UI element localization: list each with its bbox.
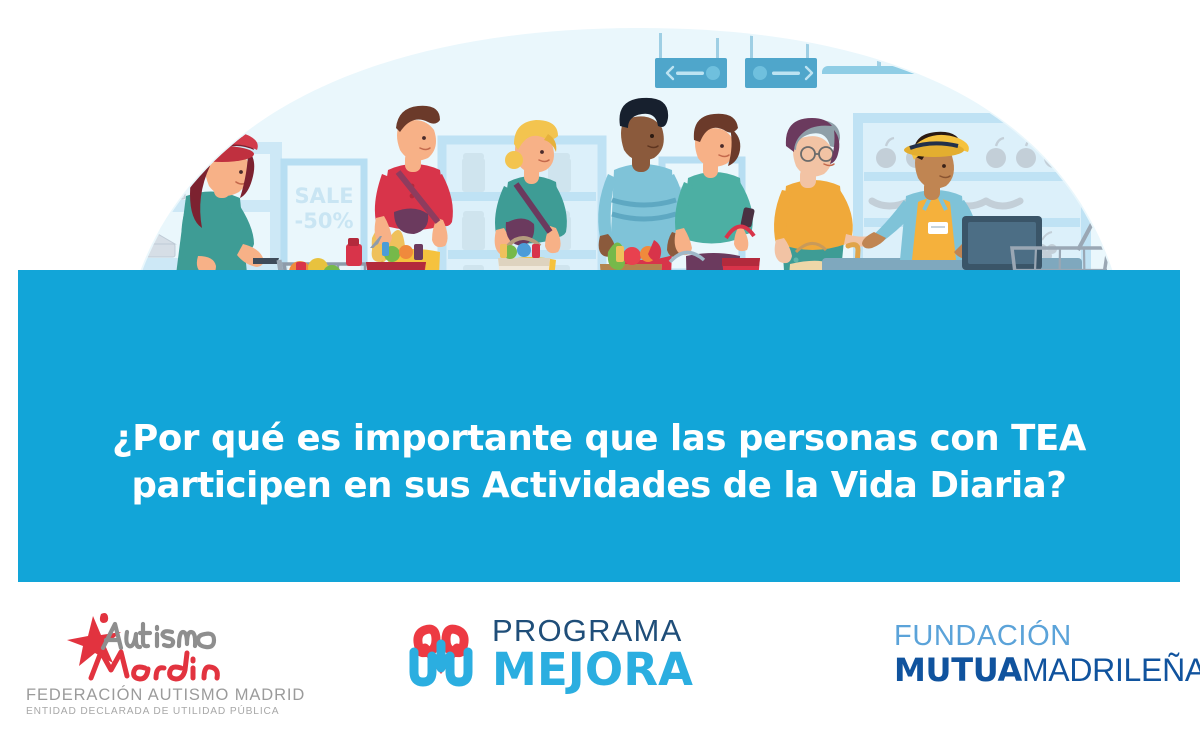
mejora-word-mejora: MEJORA bbox=[492, 647, 693, 692]
mejora-wordmark: PROGRAMA MEJORA bbox=[492, 615, 693, 692]
logo-programa-mejora: PROGRAMA MEJORA bbox=[402, 614, 693, 692]
autismo-madrid-mark bbox=[57, 612, 247, 682]
mutua-word-fundacion: FUNDACIÓN bbox=[894, 622, 1200, 651]
autismo-federation-line: FEDERACIÓN AUTISMO MADRID bbox=[26, 686, 278, 705]
page-headline: ¿Por qué es importante que las personas … bbox=[18, 415, 1180, 509]
svg-text:-50%: -50% bbox=[295, 209, 354, 233]
mutua-word-madrilena: MADRILEÑA bbox=[1022, 652, 1200, 688]
mutua-wordmark: MUTUAMADRILEÑA bbox=[894, 654, 1200, 686]
headline-line-2: participen en sus Actividades de la Vida… bbox=[18, 462, 1180, 509]
logo-fundacion-mutua-madrilena: FUNDACIÓN MUTUAMADRILEÑA bbox=[894, 622, 1200, 686]
logo-autismo-madrid: FEDERACIÓN AUTISMO MADRID ENTIDAD DECLAR… bbox=[26, 612, 278, 717]
mutua-word-mutua: MUTUA bbox=[894, 651, 1022, 689]
svg-text:SALE: SALE bbox=[294, 184, 353, 208]
autismo-entity-line: ENTIDAD DECLARADA DE UTILIDAD PÚBLICA bbox=[26, 706, 278, 717]
footer-logo-bar: FEDERACIÓN AUTISMO MADRID ENTIDAD DECLAR… bbox=[0, 582, 1200, 750]
headline-line-1: ¿Por qué es importante que las personas … bbox=[18, 415, 1180, 462]
mejora-word-programa: PROGRAMA bbox=[492, 615, 693, 646]
mejora-heart-icon bbox=[402, 614, 480, 692]
